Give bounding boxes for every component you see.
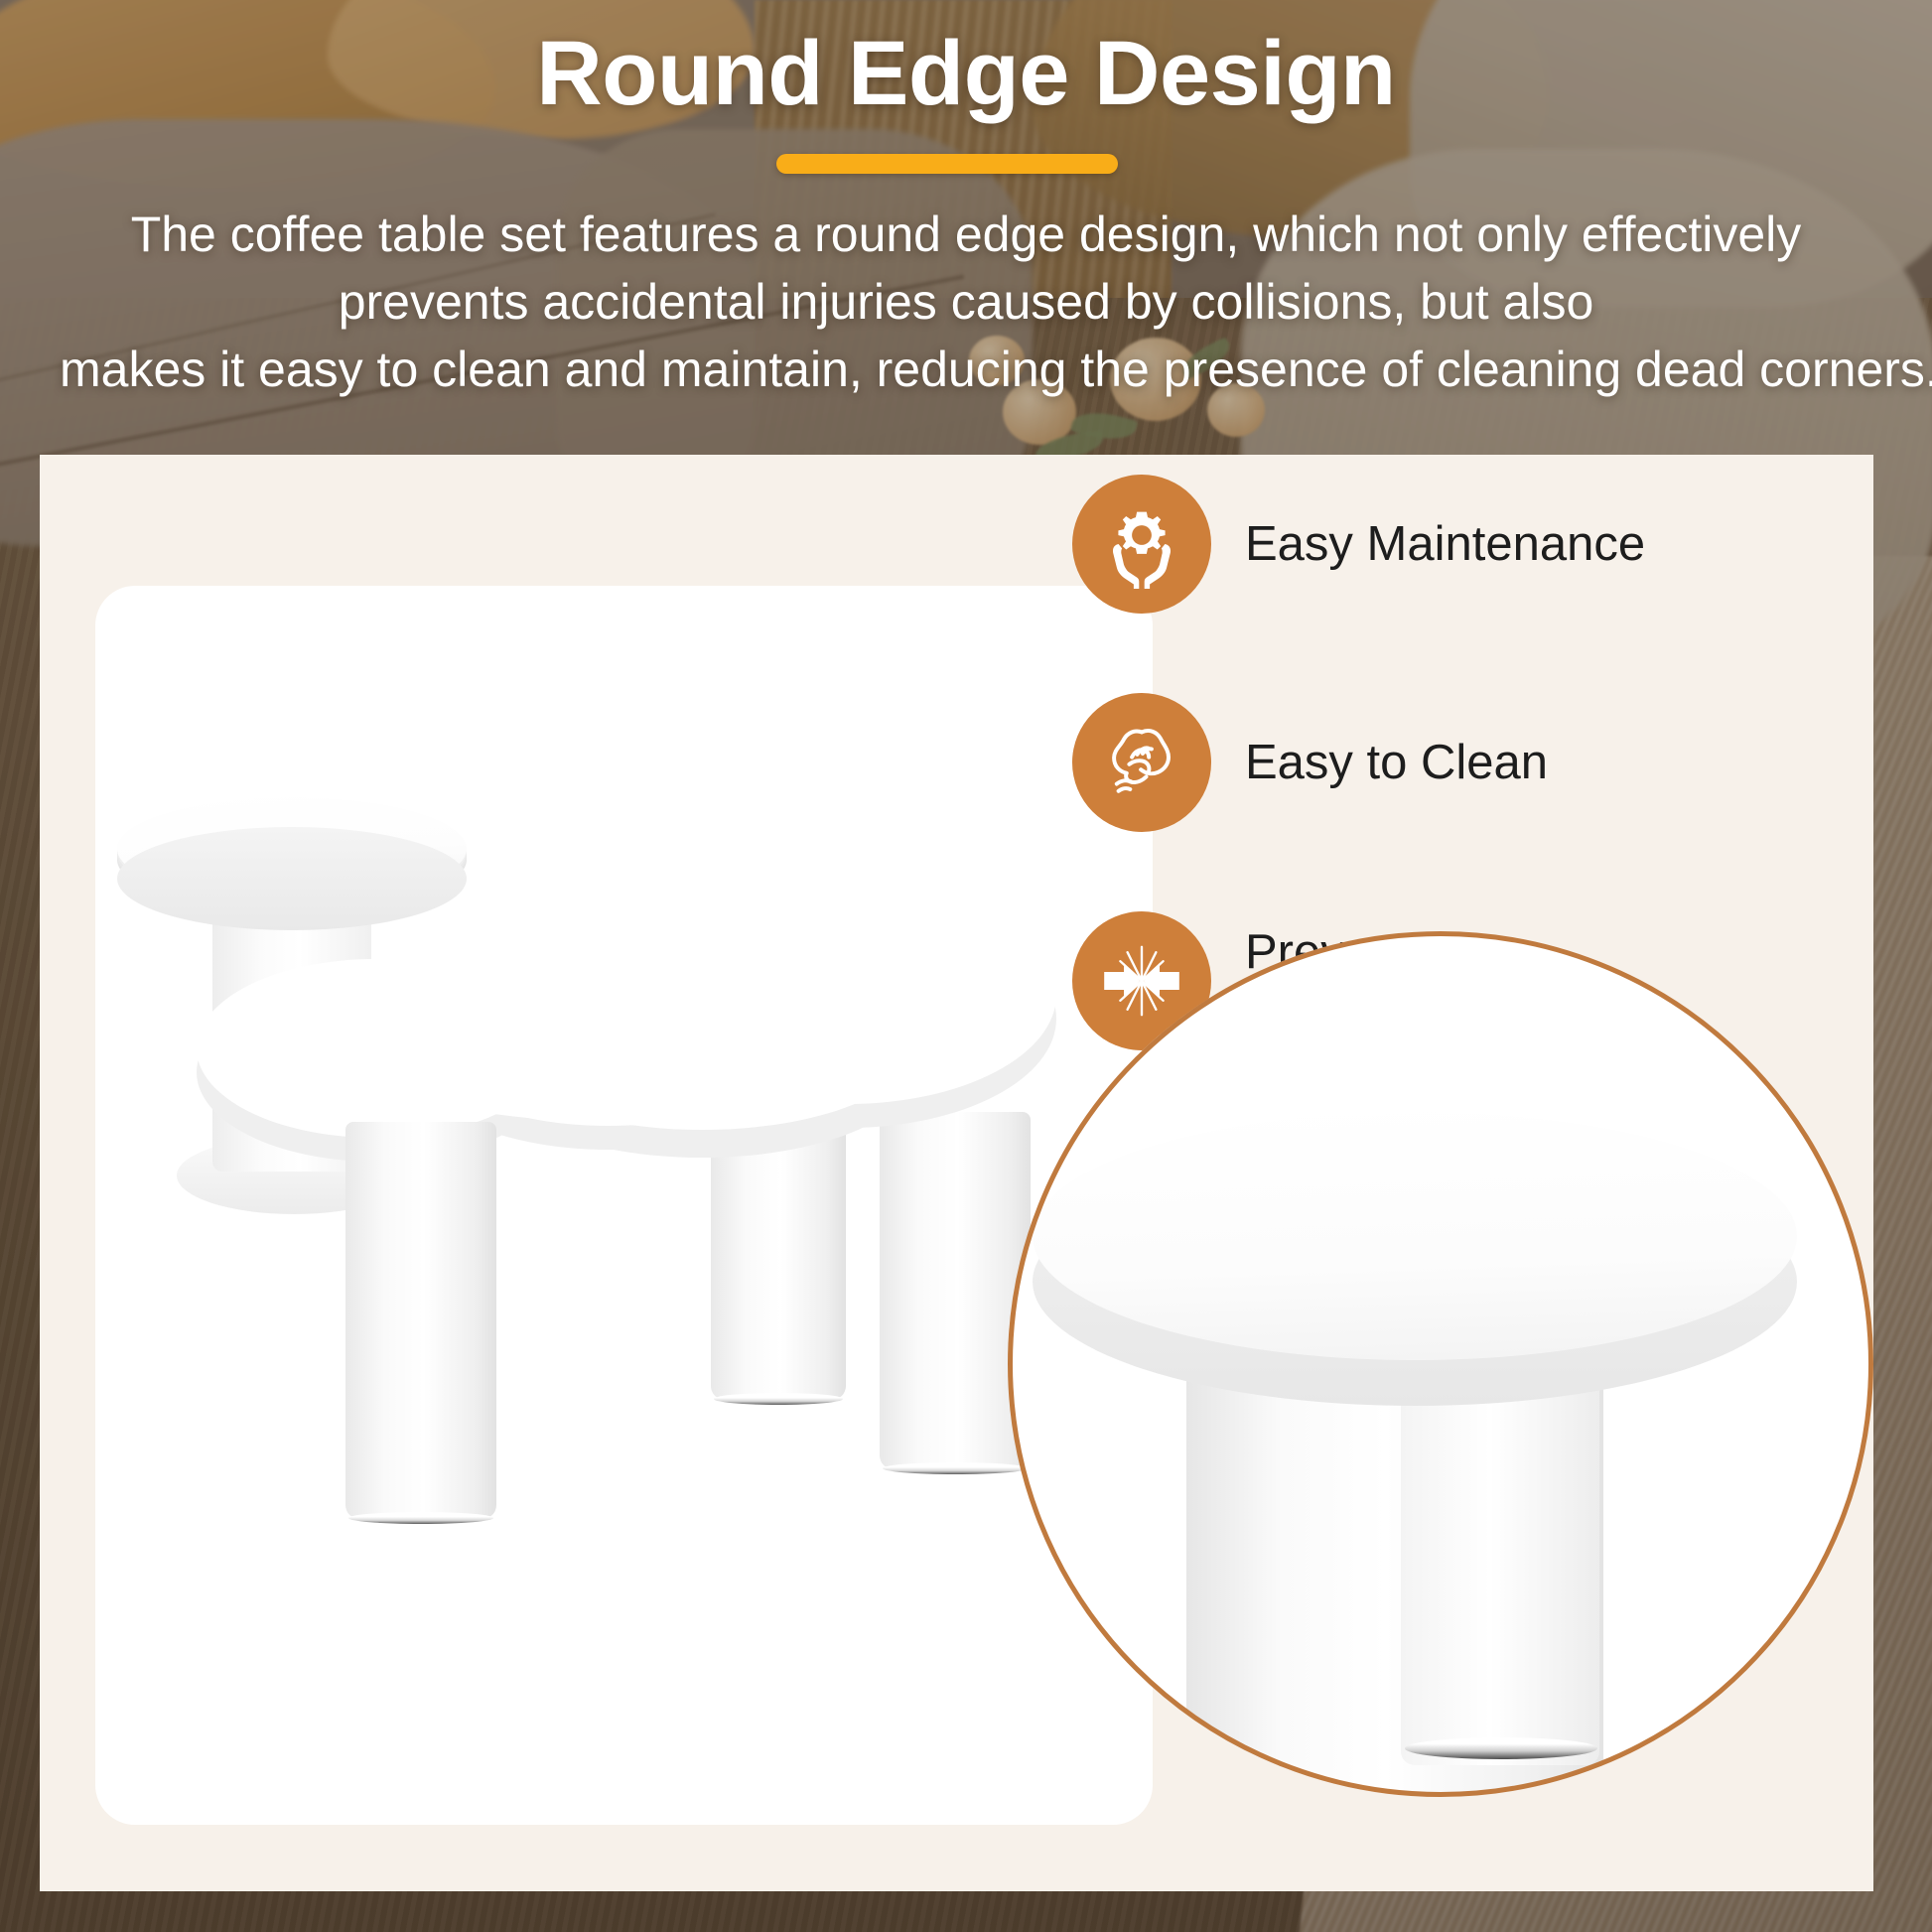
product-image-card: [95, 586, 1153, 1825]
title-underline-bar: [776, 154, 1118, 174]
feature-label: Easy to Clean: [1245, 734, 1548, 791]
hand-wiping-cloth-icon: [1072, 693, 1211, 832]
gear-in-hands-icon: [1072, 475, 1211, 614]
product-feature-banner: Round Edge Design The coffee table set f…: [0, 0, 1932, 1932]
coffee-table-leg-front: [345, 1122, 496, 1519]
feature-list: Easy Maintenance: [1072, 445, 1876, 1001]
page-title: Round Edge Design: [0, 22, 1932, 126]
description-line-3: makes it easy to clean and maintain, red…: [60, 336, 1872, 403]
detail-table-top: [1033, 1112, 1797, 1360]
feature-item-easy-to-clean[interactable]: Easy to Clean: [1072, 693, 1548, 832]
feature-label: Easy Maintenance: [1245, 515, 1645, 573]
nesting-table-top-rim: [117, 827, 467, 930]
product-illustration: [95, 586, 1153, 1825]
description-line-1: The coffee table set features a round ed…: [60, 201, 1872, 268]
description-line-2: prevents accidental injuries caused by c…: [60, 268, 1872, 336]
description: The coffee table set features a round ed…: [60, 201, 1872, 403]
detail-zoom-circle: [1008, 931, 1873, 1797]
detail-leg-foot: [1405, 1737, 1597, 1759]
header: Round Edge Design The coffee table set f…: [0, 0, 1932, 437]
content-panel: Easy Maintenance: [40, 455, 1873, 1891]
feature-item-easy-maintenance[interactable]: Easy Maintenance: [1072, 475, 1645, 614]
